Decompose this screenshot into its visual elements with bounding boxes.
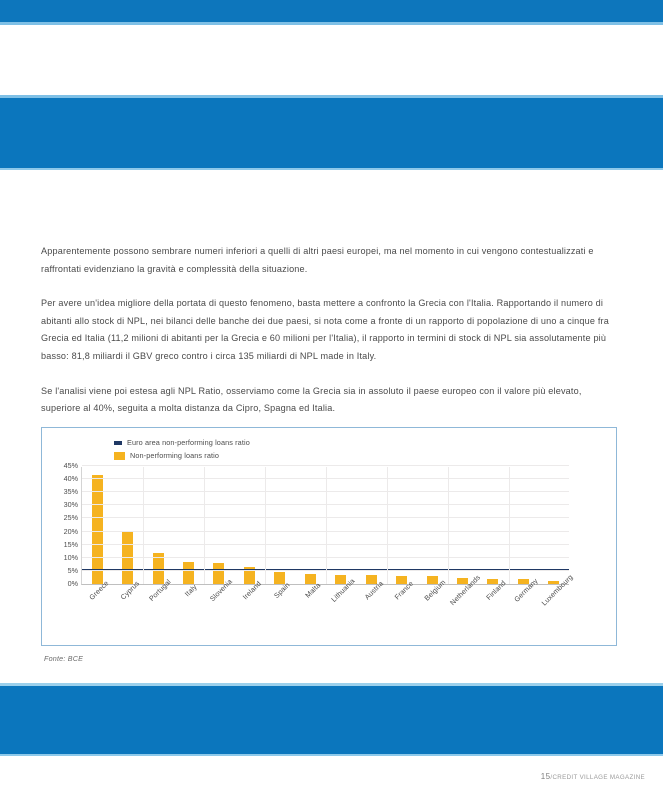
- bar-slot: [478, 467, 508, 584]
- top-blue-hairline: [0, 22, 663, 25]
- legend-item-npl-ratio: Non-performing loans ratio: [114, 449, 250, 462]
- legend-line-swatch-icon: [114, 441, 122, 445]
- y-tick-label: 45%: [64, 461, 78, 470]
- bar-slot: [508, 467, 538, 584]
- chart-source-note: Fonte: BCE: [44, 654, 83, 663]
- hero-blue-band: [0, 98, 663, 168]
- footer-credit: 15/CREDIT VILLAGE MAGAZINE: [541, 772, 645, 781]
- x-label-slot: Italy: [173, 586, 204, 638]
- bar-slot: [204, 467, 234, 584]
- y-tick-label: 30%: [64, 500, 78, 509]
- bar-slot: [295, 467, 325, 584]
- bar-slot: [82, 467, 112, 584]
- bar-slot: [234, 467, 264, 584]
- legend-label-npl-ratio: Non-performing loans ratio: [130, 451, 219, 460]
- legend-bar-swatch-icon: [114, 452, 125, 460]
- bar-slot: [143, 467, 173, 584]
- chart-plot-area: 0%5%10%15%20%25%30%35%40%45%: [81, 467, 569, 585]
- paragraph-1: Apparentemente possono sembrare numeri i…: [41, 243, 619, 278]
- page-number: 15: [541, 772, 551, 781]
- x-axis-labels: GreeceCyprusPortugalItalySloveniaIreland…: [81, 586, 569, 638]
- bar-slot: [417, 467, 447, 584]
- footer-blue-band: [0, 686, 663, 756]
- x-label-slot: Malta: [295, 586, 326, 638]
- legend-label-euro-area: Euro area non-performing loans ratio: [127, 438, 250, 447]
- bar-slot: [173, 467, 203, 584]
- y-tick-label: 10%: [64, 553, 78, 562]
- bar-slot: [356, 467, 386, 584]
- bar-slot: [326, 467, 356, 584]
- bar-slot: [112, 467, 142, 584]
- x-label-slot: Finland: [478, 586, 509, 638]
- y-tick-label: 35%: [64, 487, 78, 496]
- x-label-slot: Netherlands: [447, 586, 478, 638]
- bar-slot: [447, 467, 477, 584]
- vertical-gridline: [387, 467, 388, 584]
- paragraph-2: Per avere un'idea migliore della portata…: [41, 295, 619, 365]
- x-label-slot: Cyprus: [112, 586, 143, 638]
- y-tick-label: 20%: [64, 527, 78, 536]
- legend-item-euro-area: Euro area non-performing loans ratio: [114, 436, 250, 449]
- vertical-gridline: [143, 467, 144, 584]
- x-label-slot: Portugal: [142, 586, 173, 638]
- y-tick-label: 5%: [68, 566, 78, 575]
- x-label-slot: Lithuania: [325, 586, 356, 638]
- paragraph-3: Se l'analisi viene poi estesa agli NPL R…: [41, 383, 619, 418]
- bar-slot: [386, 467, 416, 584]
- bar-italy: [183, 562, 194, 584]
- vertical-gridline: [509, 467, 510, 584]
- y-tick-label: 40%: [64, 474, 78, 483]
- horizontal-gridline: [82, 465, 569, 466]
- x-label-slot: Belgium: [417, 586, 448, 638]
- y-axis-labels: 0%5%10%15%20%25%30%35%40%45%: [48, 461, 78, 591]
- x-label-slot: Greece: [81, 586, 112, 638]
- x-label-slot: Slovenia: [203, 586, 234, 638]
- x-label-slot: Austria: [356, 586, 387, 638]
- footer-band-bottom-rule: [0, 754, 663, 756]
- x-label-slot: Spain: [264, 586, 295, 638]
- x-label-slot: France: [386, 586, 417, 638]
- vertical-gridline: [326, 467, 327, 584]
- bar-cyprus: [122, 532, 133, 584]
- article-body: Apparentemente possono sembrare numeri i…: [41, 243, 619, 435]
- x-tick-label: Italy: [183, 583, 198, 598]
- vertical-gridline: [204, 467, 205, 584]
- plot-canvas: [81, 467, 569, 585]
- top-blue-band: [0, 0, 663, 22]
- hero-band-bottom-rule: [0, 168, 663, 170]
- y-tick-label: 0%: [68, 579, 78, 588]
- vertical-gridline: [265, 467, 266, 584]
- x-label-slot: Germany: [508, 586, 539, 638]
- bar-slot: [539, 467, 569, 584]
- x-label-slot: Ireland: [234, 586, 265, 638]
- vertical-gridline: [448, 467, 449, 584]
- bar-slot: [265, 467, 295, 584]
- bar-slovenia: [213, 563, 224, 584]
- y-tick-label: 15%: [64, 540, 78, 549]
- y-tick-label: 25%: [64, 513, 78, 522]
- magazine-name: /CREDIT VILLAGE MAGAZINE: [550, 774, 645, 781]
- x-label-slot: Luxembourg: [539, 586, 570, 638]
- npl-ratio-chart: Euro area non-performing loans ratio Non…: [41, 427, 617, 646]
- chart-legend: Euro area non-performing loans ratio Non…: [114, 436, 250, 462]
